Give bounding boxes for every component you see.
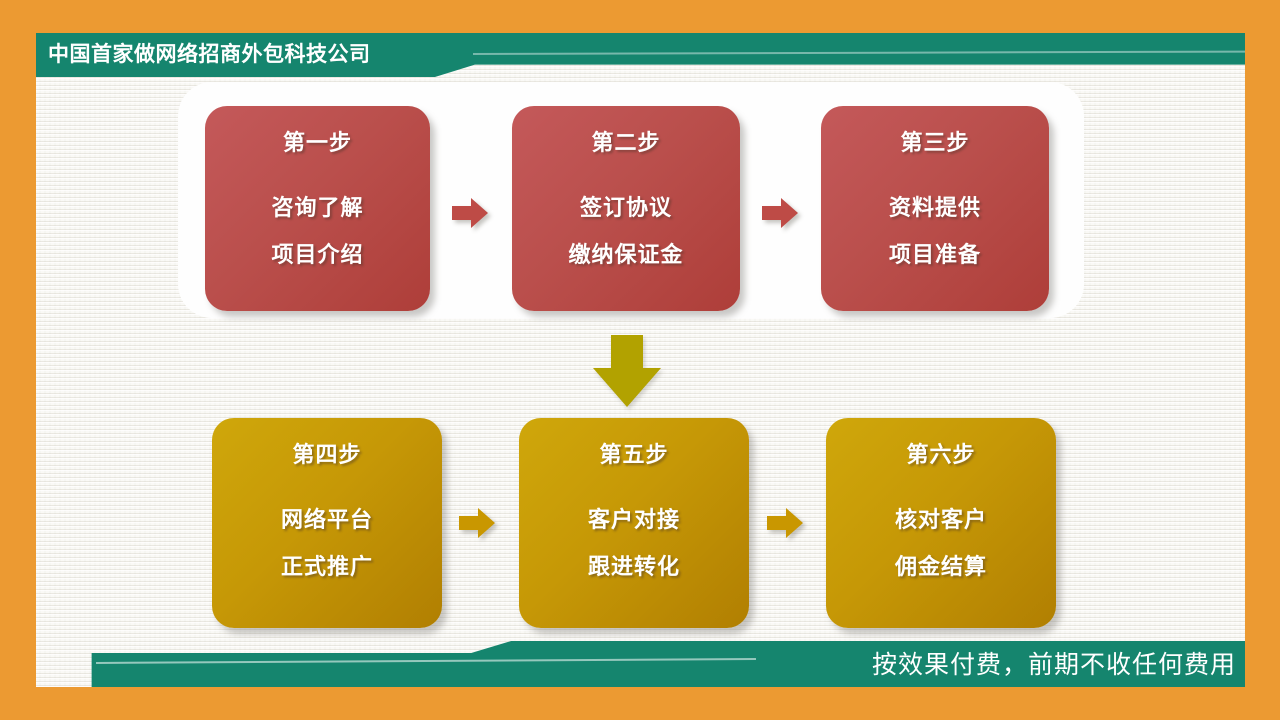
- step-card-1[interactable]: 第一步 咨询了解 项目介绍: [205, 106, 430, 311]
- step-card-6[interactable]: 第六步 核对客户 佣金结算: [826, 418, 1056, 628]
- step-card-2-body: 签订协议 缴纳保证金: [568, 185, 683, 279]
- step-card-3-title: 第三步: [900, 129, 969, 159]
- arrow-right-icon: [762, 196, 798, 230]
- slide-root: 中国首家做网络招商外包科技公司 第一步 咨询了解 项目介绍 第二步 签订协议 缴…: [0, 0, 1280, 720]
- footer-tagline: 按效果付费，前期不收任何费用: [872, 649, 1236, 681]
- step-card-1-title: 第一步: [283, 129, 352, 159]
- step-card-6-line2: 佣金结算: [895, 544, 987, 591]
- step-card-6-title: 第六步: [906, 441, 975, 471]
- step-card-4-line1: 网络平台: [281, 497, 373, 544]
- step-card-4-body: 网络平台 正式推广: [281, 497, 373, 591]
- step-card-1-line2: 项目介绍: [271, 232, 363, 279]
- step-card-1-body: 咨询了解 项目介绍: [271, 185, 363, 279]
- step-card-5-title: 第五步: [599, 441, 668, 471]
- step-card-5-body: 客户对接 跟进转化: [588, 497, 680, 591]
- step-card-3-line1: 资料提供: [889, 185, 981, 232]
- arrow-right-icon: [767, 506, 803, 540]
- arrow-right-icon: [452, 196, 488, 230]
- step-card-4-title: 第四步: [292, 441, 361, 471]
- step-card-2[interactable]: 第二步 签订协议 缴纳保证金: [512, 106, 740, 311]
- step-card-6-body: 核对客户 佣金结算: [895, 497, 987, 591]
- step-card-3-line2: 项目准备: [889, 232, 981, 279]
- step-card-2-line1: 签订协议: [568, 185, 683, 232]
- step-card-4-line2: 正式推广: [281, 544, 373, 591]
- arrow-right-icon: [459, 506, 495, 540]
- step-card-2-title: 第二步: [591, 129, 660, 159]
- step-card-3[interactable]: 第三步 资料提供 项目准备: [821, 106, 1049, 311]
- step-card-4[interactable]: 第四步 网络平台 正式推广: [212, 418, 442, 628]
- step-card-1-line1: 咨询了解: [271, 185, 363, 232]
- arrow-down-icon: [593, 335, 661, 407]
- page-title: 中国首家做网络招商外包科技公司: [48, 40, 371, 68]
- step-card-5-line1: 客户对接: [588, 497, 680, 544]
- step-card-2-line2: 缴纳保证金: [568, 232, 683, 279]
- step-card-3-body: 资料提供 项目准备: [889, 185, 981, 279]
- step-card-5-line2: 跟进转化: [588, 544, 680, 591]
- step-card-5[interactable]: 第五步 客户对接 跟进转化: [519, 418, 749, 628]
- step-card-6-line1: 核对客户: [895, 497, 987, 544]
